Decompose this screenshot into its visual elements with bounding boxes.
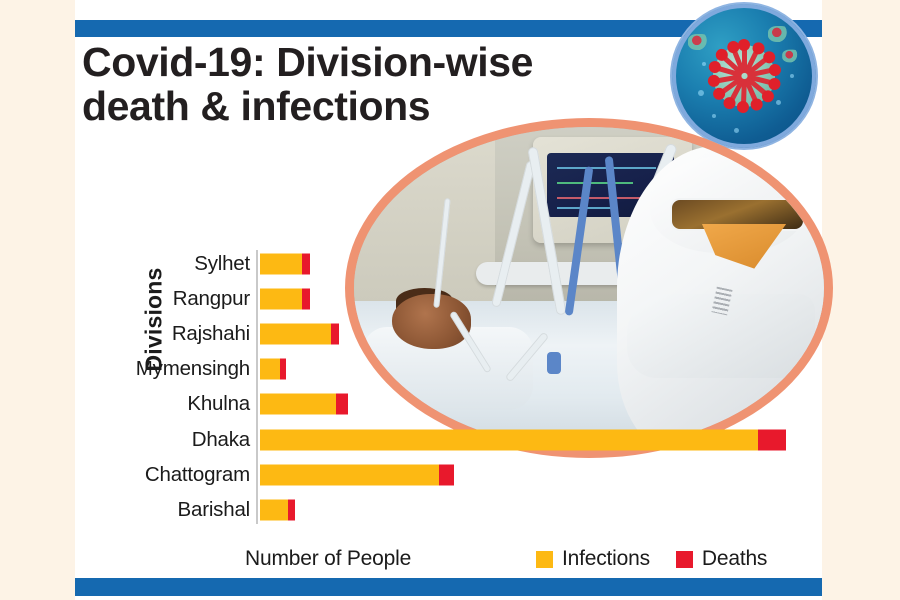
bar-segment-infections [260,429,758,450]
chart-row: Barishal [82,492,822,527]
bar-segment-infections [260,464,439,485]
bar-segment-infections [260,288,302,309]
category-label-sylhet: Sylhet [194,252,250,276]
chart-row: Mymensingh [82,352,822,387]
bar-segment-infections [260,323,331,344]
category-label-rangpur: Rangpur [173,287,250,311]
bar-segment-deaths [331,323,339,344]
page-title-line-2: death & infections [82,84,602,128]
page-title: Covid-19: Division-wise death & infectio… [82,40,602,129]
category-label-rajshahi: Rajshahi [172,322,250,346]
legend-swatch-deaths [676,551,693,568]
legend-swatch-infections [536,551,553,568]
bar-group-dhaka[interactable] [260,429,786,450]
chart-legend: Infections Deaths [536,547,767,571]
category-label-khulna: Khulna [187,392,250,416]
x-axis-label: Number of People [245,547,411,571]
chart-row: Chattogram [82,457,822,492]
bar-segment-deaths [336,394,348,415]
bar-segment-deaths [302,253,310,274]
bar-segment-infections [260,253,302,274]
bottom-blue-rule [75,578,822,596]
chart-row: Rangpur [82,281,822,316]
bar-group-mymensingh[interactable] [260,359,286,380]
chart-rows: SylhetRangpurRajshahiMymensinghKhulnaDha… [82,246,822,528]
chart-row: Khulna [82,387,822,422]
bar-group-khulna[interactable] [260,394,348,415]
bar-segment-deaths [288,499,295,520]
bar-group-rajshahi[interactable] [260,323,339,344]
chart-row: Rajshahi [82,316,822,351]
category-label-chattogram: Chattogram [145,463,250,487]
bar-segment-deaths [302,288,310,309]
bar-group-chattogram[interactable] [260,464,454,485]
bar-segment-infections [260,394,336,415]
chart-row: Dhaka [82,422,822,457]
legend-item-deaths[interactable]: Deaths [676,547,767,571]
bar-segment-infections [260,499,288,520]
bar-group-rangpur[interactable] [260,288,310,309]
category-label-mymensingh: Mymensingh [136,357,250,381]
category-label-barishal: Barishal [178,498,250,522]
page-title-line-1: Covid-19: Division-wise [82,40,602,84]
bar-segment-deaths [280,359,286,380]
bar-chart: Divisions SylhetRangpurRajshahiMymensing… [82,246,822,546]
bar-segment-deaths [439,464,454,485]
chart-row: Sylhet [82,246,822,281]
bar-group-sylhet[interactable] [260,253,310,274]
infographic-root: Covid-19: Division-wise death & infectio… [0,0,900,600]
legend-label-infections: Infections [562,547,650,571]
bar-segment-deaths [758,429,785,450]
bar-segment-infections [260,359,280,380]
legend-item-infections[interactable]: Infections [536,547,650,571]
bar-group-barishal[interactable] [260,499,295,520]
category-label-dhaka: Dhaka [192,428,250,452]
legend-label-deaths: Deaths [702,547,767,571]
